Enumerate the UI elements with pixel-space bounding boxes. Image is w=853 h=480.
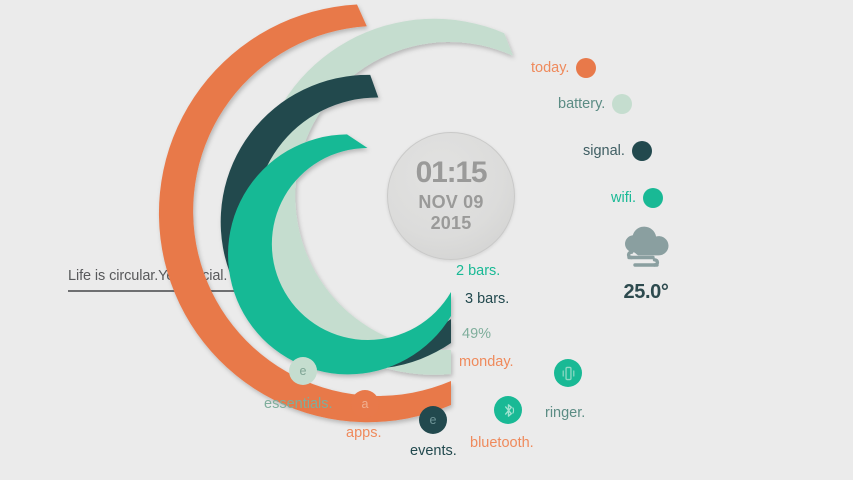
chip-label-essentials: essentials. bbox=[264, 396, 333, 412]
chip-label-apps: apps. bbox=[346, 425, 381, 441]
dot-icon-battery bbox=[612, 94, 632, 114]
legend-label-signal: signal. bbox=[583, 143, 625, 159]
legend-label-today: today. bbox=[531, 60, 569, 76]
chip-label-bluetooth: bluetooth. bbox=[470, 435, 534, 451]
chip-bluetooth[interactable] bbox=[494, 396, 522, 424]
arc-value-battery: 49% bbox=[462, 326, 491, 342]
chip-events[interactable]: e bbox=[419, 406, 447, 434]
arc-value-wifi: 2 bars. bbox=[456, 263, 500, 279]
chip-essentials[interactable]: e bbox=[289, 357, 317, 385]
chip-apps[interactable]: a bbox=[351, 390, 379, 418]
weather-temperature: 25.0° bbox=[608, 281, 684, 304]
legend-item-today[interactable]: today. bbox=[531, 58, 596, 78]
chip-ringer[interactable] bbox=[554, 359, 582, 387]
legend-item-signal[interactable]: signal. bbox=[583, 141, 652, 161]
clock-date: NOV 09 bbox=[418, 192, 483, 213]
chip-label-events: events. bbox=[410, 443, 457, 459]
watchface-canvas: Life is circular.Yet crucial. 01:15 NOV … bbox=[0, 0, 853, 480]
clock-year: 2015 bbox=[431, 213, 472, 234]
letter-e-icon: e bbox=[430, 413, 437, 427]
legend-item-wifi[interactable]: wifi. bbox=[611, 188, 663, 208]
letter-a-icon: a bbox=[362, 397, 369, 411]
dot-icon-signal bbox=[632, 141, 652, 161]
vibrate-icon bbox=[560, 365, 577, 382]
chip-label-ringer: ringer. bbox=[545, 405, 585, 421]
legend-label-battery: battery. bbox=[558, 96, 605, 112]
letter-e-icon: e bbox=[300, 364, 307, 378]
dot-icon-wifi bbox=[643, 188, 663, 208]
cloud-wind-icon bbox=[617, 226, 675, 274]
legend-item-battery[interactable]: battery. bbox=[558, 94, 632, 114]
bluetooth-icon bbox=[501, 403, 516, 418]
arc-value-today: monday. bbox=[459, 354, 514, 370]
weather-widget[interactable]: 25.0° bbox=[608, 226, 684, 304]
legend-label-wifi: wifi. bbox=[611, 190, 636, 206]
arc-value-signal: 3 bars. bbox=[465, 291, 509, 307]
clock-face[interactable]: 01:15 NOV 09 2015 bbox=[387, 132, 515, 260]
dot-icon-today bbox=[576, 58, 596, 78]
clock-time: 01:15 bbox=[416, 158, 487, 188]
